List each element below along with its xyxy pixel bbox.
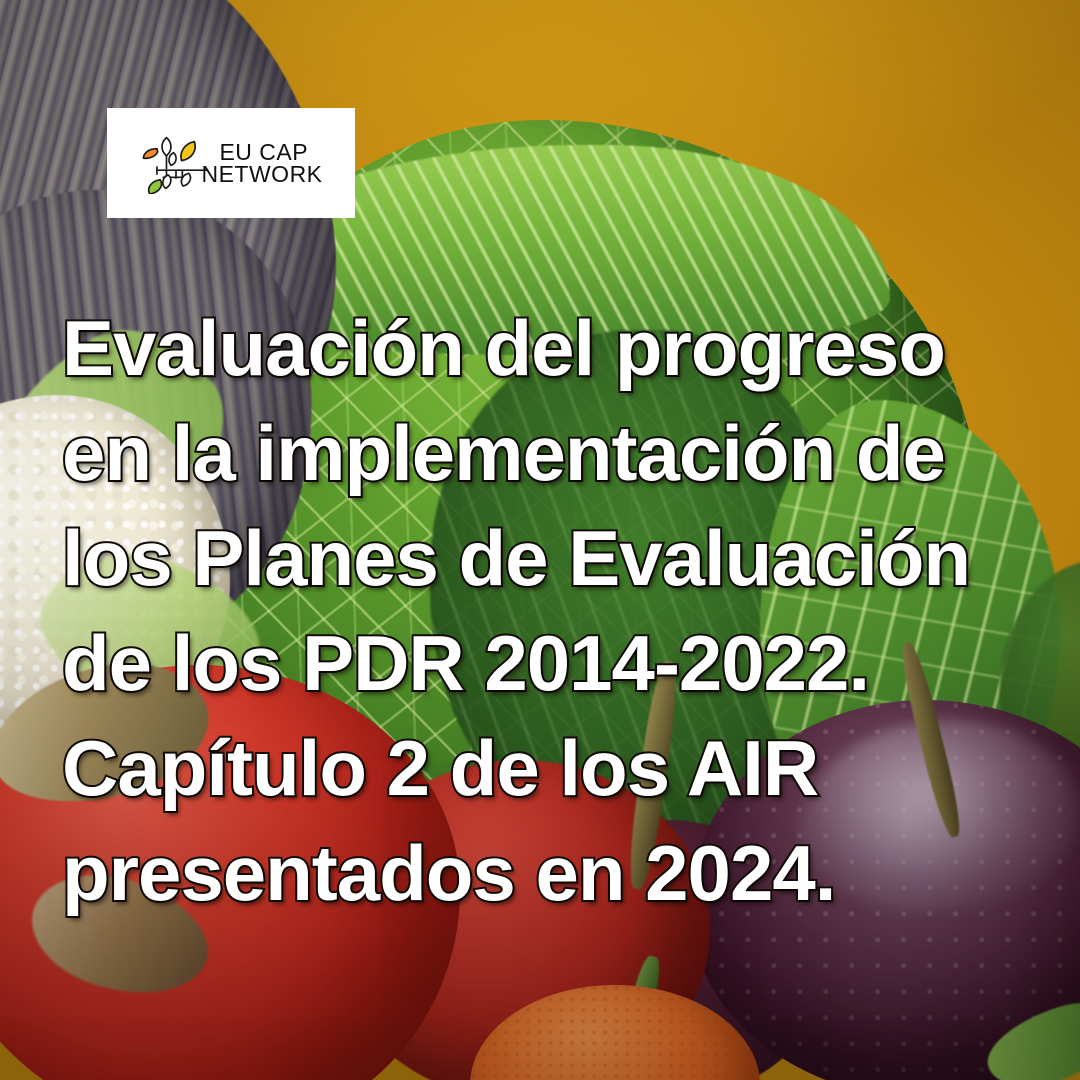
- logo-wordmark: EU CAP NETWORK: [219, 141, 322, 185]
- eu-cap-network-logo-card: EU CAP NETWORK: [107, 108, 355, 218]
- headline-title: Evaluación del progreso en la implementa…: [62, 296, 1022, 925]
- logo-lockup: EU CAP NETWORK: [139, 132, 322, 194]
- logo-line-network: NETWORK: [201, 163, 322, 185]
- social-card-canvas: EU CAP NETWORK Evaluación del progreso e…: [0, 0, 1080, 1080]
- logo-line-eu-cap: EU CAP: [219, 141, 322, 163]
